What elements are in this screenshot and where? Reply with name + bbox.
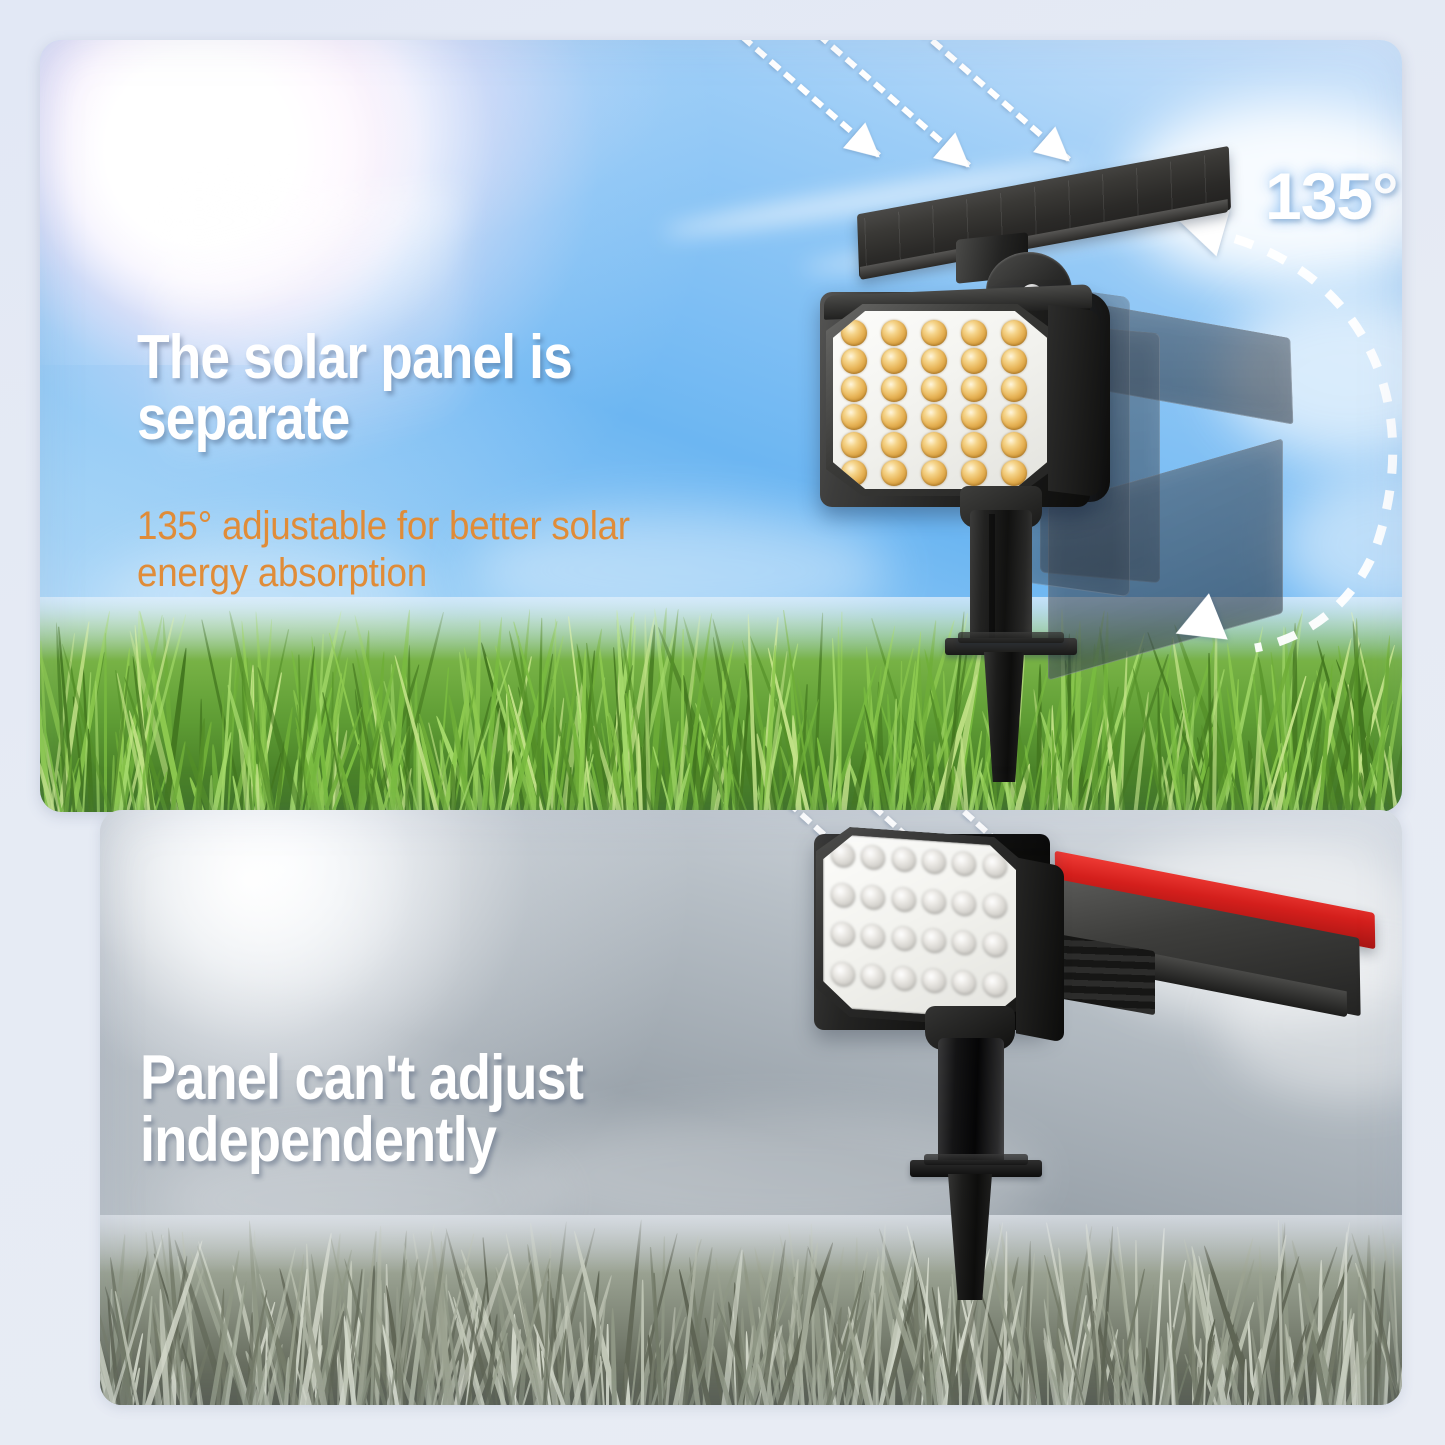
page-title-advantage: The solar panel is separate: [137, 328, 572, 450]
ground-stake-spike: [948, 1174, 992, 1300]
led-emitter: [1001, 320, 1027, 346]
drawback-panel-card: Panel can't adjust independently: [100, 810, 1402, 1405]
led-emitter: [921, 320, 947, 346]
led-emitter: [952, 930, 976, 956]
led-emitter: [841, 432, 867, 458]
led-emitter: [1001, 432, 1027, 458]
led-emitter: [881, 320, 907, 346]
led-emitter: [961, 404, 987, 430]
led-emitter: [881, 376, 907, 402]
led-emitter: [922, 968, 946, 994]
led-emitter: [922, 889, 946, 915]
led-emitter: [881, 460, 907, 486]
led-emitter: [921, 460, 947, 486]
led-emitter: [961, 348, 987, 374]
led-emitter: [952, 891, 976, 917]
led-emitter: [961, 460, 987, 486]
subtitle-advantage: 135° adjustable for better solar energy …: [137, 503, 630, 597]
angle-degree-label: 135°: [1265, 158, 1398, 234]
led-emitter: [841, 376, 867, 402]
led-emitter: [983, 893, 1007, 919]
led-emitter: [921, 404, 947, 430]
led-emitter: [841, 348, 867, 374]
stake-flange-back: [924, 1154, 1028, 1165]
led-emitter: [861, 845, 885, 871]
led-emitter: [881, 432, 907, 458]
led-emitter: [892, 886, 916, 912]
mounting-post: [970, 510, 1032, 646]
led-emitter: [861, 963, 885, 989]
led-emitter: [922, 849, 946, 875]
led-emitter: [831, 922, 855, 948]
led-array: [823, 833, 1019, 1021]
led-emitter: [1001, 376, 1027, 402]
led-emitter: [952, 970, 976, 996]
led-emitter: [861, 884, 885, 910]
led-emitter: [892, 926, 916, 952]
led-emitter: [1001, 460, 1027, 486]
led-emitter: [952, 851, 976, 877]
led-emitter: [881, 348, 907, 374]
led-emitter: [922, 928, 946, 954]
led-emitter: [921, 376, 947, 402]
led-emitter: [892, 847, 916, 873]
led-emitter: [861, 924, 885, 950]
led-emitter: [881, 404, 907, 430]
led-emitter: [921, 432, 947, 458]
led-emitter: [961, 432, 987, 458]
led-emitter: [1001, 348, 1027, 374]
led-array: [833, 311, 1047, 489]
led-emitter: [841, 404, 867, 430]
led-emitter: [961, 320, 987, 346]
head-side-face: [1016, 857, 1064, 1042]
page-title-drawback: Panel can't adjust independently: [140, 1048, 583, 1171]
advantage-panel-card: The solar panel is separate 135° adjusta…: [40, 40, 1402, 812]
led-emitter: [1001, 404, 1027, 430]
led-emitter: [983, 932, 1007, 958]
mounting-post: [938, 1038, 1004, 1166]
led-emitter: [892, 965, 916, 991]
led-emitter: [831, 961, 855, 987]
stake-flange-back: [958, 632, 1064, 643]
led-emitter: [921, 348, 947, 374]
led-emitter: [961, 376, 987, 402]
ground-stake-spike: [984, 652, 1024, 782]
head-side-face: [1048, 305, 1100, 497]
led-emitter: [831, 882, 855, 908]
post-rib: [989, 514, 995, 642]
led-emitter: [983, 972, 1007, 998]
